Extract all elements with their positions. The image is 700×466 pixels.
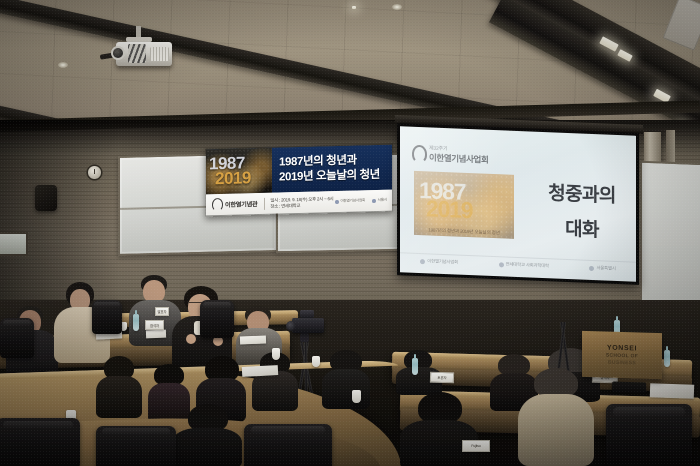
chair-highlight (613, 407, 685, 417)
podium-line-1: YONSEI (607, 344, 637, 352)
slide-footer-logo: 연세대학교 사회과학대학 (499, 261, 549, 269)
water-bottle (664, 350, 670, 367)
name-card: Fujitsu (462, 440, 490, 452)
banner-sponsor: 이한열기념사업회 (335, 198, 365, 204)
torso (518, 394, 594, 466)
podium-line-3: BUSINESS (608, 359, 636, 366)
banner-top-section: 1987 2019 1987년의 청년과 2019년 오늘날의 청년 (206, 145, 392, 195)
name-badge: 발표자 (155, 307, 169, 316)
chair-highlight (3, 320, 32, 326)
banner-sponsors: 이한열기념사업회 서울시 (335, 198, 392, 204)
torso (172, 428, 242, 466)
banner-title: 1987년의 청년과 2019년 오늘날의 청년 (272, 145, 392, 193)
slide-heading: 청중과의 대화 (528, 183, 636, 241)
projector-controls (128, 44, 146, 63)
slide-heading-line1: 청중과의 (528, 183, 636, 206)
audience-member (172, 404, 242, 466)
banner-sponsor: 서울시 (372, 198, 387, 203)
water-bottle (133, 314, 139, 331)
chair-highlight (251, 426, 325, 434)
whiteboard (640, 161, 700, 318)
memorial-logo-icon (412, 145, 427, 164)
projected-slide: 제32주기 이한열기념사업회 1987 2019 1987년의 청년과 2019… (400, 126, 636, 281)
chair (0, 418, 80, 466)
audience-member (518, 368, 594, 466)
chair-highlight (94, 302, 119, 307)
papers (240, 336, 266, 345)
water-bottle (412, 358, 418, 375)
lecture-hall-photo: 1987 2019 1987년의 청년과 2019년 오늘날의 청년 이한열기념… (0, 0, 700, 466)
paper-cup (272, 348, 280, 360)
paper-cup (312, 356, 320, 367)
name-card: 토론자 (430, 372, 454, 384)
podium-line-2: SCHOOL OF (606, 352, 638, 359)
audience-member (252, 352, 298, 408)
banner-title-line2: 2019년 오늘날의 청년 (279, 167, 392, 185)
banner-org-name: 이한열기념관 (225, 199, 257, 209)
slide-year-bottom: 2019 (426, 195, 472, 224)
chair (244, 424, 332, 466)
audience-member (322, 350, 370, 406)
papers (242, 365, 278, 377)
audience-member (96, 356, 142, 416)
ceiling-downlight (58, 62, 68, 68)
chair (200, 300, 234, 338)
banner-org-logo: 이한열기념관 (206, 197, 257, 211)
event-banner: 1987 2019 1987년의 청년과 2019년 오늘날의 청년 이한열기념… (205, 144, 393, 217)
slide-logo-name: 이한열기념사업회 (429, 151, 488, 165)
laptop (612, 381, 646, 393)
podium: YONSEI SCHOOL OF BUSINESS (582, 331, 662, 379)
slide-heading-line2: 대화 (528, 218, 636, 241)
slide-footer-logo: 서울특별시 (589, 265, 615, 272)
banner-info-place: 장소 : 연세대학교 (270, 202, 334, 209)
hand (186, 334, 196, 344)
paper-cup (352, 390, 361, 403)
chair (606, 404, 692, 466)
torso (322, 369, 370, 409)
projector-vent (150, 47, 169, 61)
camera-viewfinder (300, 310, 314, 318)
audience-member (400, 392, 478, 466)
chair (92, 300, 122, 334)
projector-lens-icon (113, 48, 123, 58)
chair-highlight (102, 428, 169, 435)
papers (650, 383, 694, 399)
chair (96, 426, 176, 466)
tripod-head (300, 333, 309, 342)
torso (96, 376, 142, 418)
wall-window (0, 232, 28, 256)
torso (252, 371, 298, 411)
slide-footer-logos: 이한열기념사업회 연세대학교 사회과학대학 서울특별시 (400, 252, 636, 276)
banner-photo: 1987 2019 (206, 148, 272, 195)
chair (0, 318, 34, 358)
banner-year-bottom: 2019 (215, 168, 251, 189)
ceiling-light (352, 6, 356, 9)
wall-clock-icon (88, 166, 101, 179)
slide-footer-logo: 이한열기념사업회 (420, 258, 458, 266)
slide-poster-image: 1987 2019 1987년의 청년과 2019년 오늘날의 청년 (414, 171, 514, 239)
slide-logo-text: 제32주기 이한열기념사업회 (429, 141, 488, 165)
ceiling-downlight (392, 4, 402, 10)
projection-screen: 제32주기 이한열기념사업회 1987 2019 1987년의 청년과 2019… (397, 123, 639, 285)
banner-bottom-section: 이한열기념관 일시 : 2019. 9. 18(수) 오후 2시 ~ 6시 장소… (206, 190, 392, 216)
camera-body (292, 318, 324, 333)
banner-info: 일시 : 2019. 9. 18(수) 오후 2시 ~ 6시 장소 : 연세대학… (264, 196, 334, 210)
memorial-logo-icon (212, 198, 223, 211)
name-card: 참석자 (145, 320, 164, 330)
wall-speaker-icon (35, 185, 57, 211)
slide-logo: 제32주기 이한열기념사업회 (412, 141, 488, 166)
camera-lens-icon (286, 321, 296, 331)
papers (146, 330, 166, 339)
chair-highlight (203, 302, 232, 308)
chair-highlight (3, 421, 74, 429)
